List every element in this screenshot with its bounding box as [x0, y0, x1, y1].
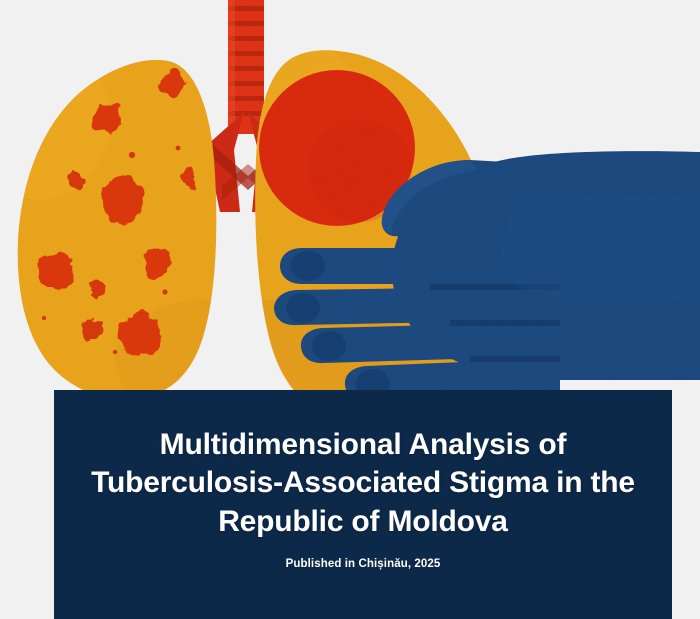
publication-line: Published in Chișinău, 2025 [286, 558, 441, 570]
title-line-3: Republic of Moldova [73, 503, 653, 541]
title-line-2: Tuberculosis-Associated Stigma in the [73, 464, 653, 502]
page-title: Multidimensional Analysis of Tuberculosi… [73, 426, 653, 541]
trachea [228, 0, 264, 134]
book-cover: Multidimensional Analysis of Tuberculosi… [0, 0, 700, 619]
title-banner: Multidimensional Analysis of Tuberculosi… [54, 390, 672, 619]
palm-highlight [501, 195, 700, 300]
title-line-1: Multidimensional Analysis of [73, 426, 653, 464]
